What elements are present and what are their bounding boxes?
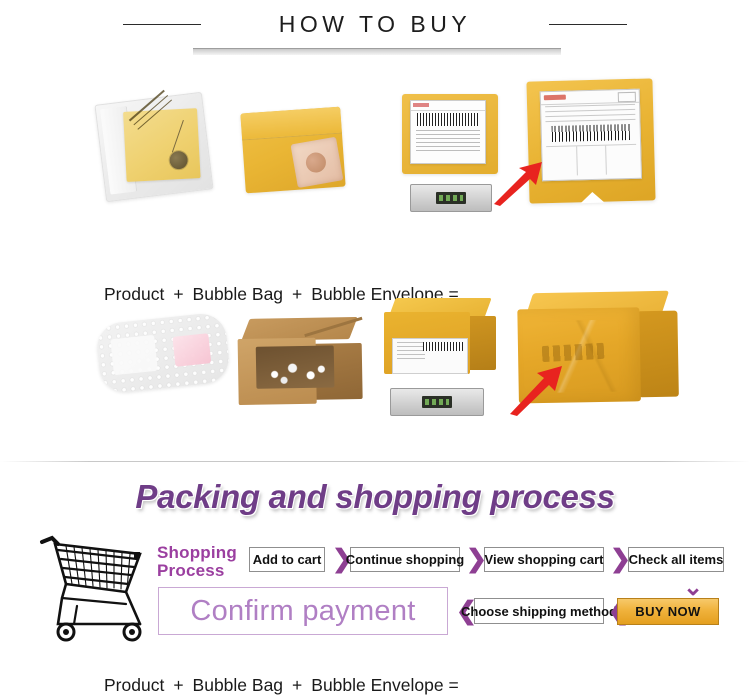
open-carton-with-filler	[238, 318, 362, 406]
packing-row-2-items	[0, 257, 750, 422]
header-rule-left	[123, 24, 201, 25]
parcel-printed-text	[542, 343, 605, 362]
yellow-box-on-scale	[384, 298, 502, 416]
waybill-header	[411, 101, 485, 111]
page-title: HOW TO BUY	[279, 11, 471, 38]
bubble-wrapped-products	[98, 318, 228, 388]
header-inner: HOW TO BUY	[0, 0, 750, 48]
waybill-logo-row	[541, 90, 639, 106]
product-in-poly-bag	[100, 98, 208, 196]
ybox-side	[468, 316, 496, 370]
shopping-process-flow: Shopping Process Add to cart ❯ Continue …	[0, 540, 750, 658]
digital-scale	[410, 184, 492, 212]
buy-now-button[interactable]: BUY NOW	[617, 598, 719, 625]
waybill-fields	[545, 104, 635, 124]
parcel-side	[637, 311, 678, 398]
waybill-footer-grid	[546, 144, 637, 176]
shopping-process-label-line2: Process	[157, 562, 237, 580]
process-title: Packing and shopping process	[0, 478, 750, 516]
waybill-small	[410, 100, 486, 164]
carton-cavity-filler	[256, 345, 335, 388]
caption-bubble-envelope-2: Bubble Envelope	[311, 675, 443, 695]
red-arrow-2	[508, 364, 564, 416]
wrapped-item-a	[110, 335, 158, 375]
barcode	[417, 113, 479, 126]
bubble-wrap-bundle	[95, 311, 232, 394]
packing-row-2-caption: Product+Bubble Bag+Bubble Envelope =	[0, 675, 750, 696]
envelope-notch	[580, 192, 604, 204]
confirm-payment-label: Confirm payment	[190, 595, 415, 628]
step-view-shopping-cart[interactable]: View shopping cart	[484, 547, 604, 572]
header-rule-right	[549, 24, 627, 25]
step-check-all-items[interactable]: Check all items	[628, 547, 724, 572]
section-divider	[0, 461, 750, 462]
mailer-contents	[290, 137, 343, 188]
waybill-lines	[416, 130, 480, 159]
final-labeled-envelope	[528, 80, 654, 202]
brand-script	[129, 90, 165, 122]
pendant	[169, 151, 188, 170]
packing-row-1-items	[0, 62, 750, 222]
kraft-bubble-mailer	[243, 110, 343, 190]
ybox-shipping-label	[392, 338, 468, 374]
scale-display-2	[422, 396, 452, 408]
shopping-process-label: Shopping Process	[157, 544, 237, 580]
caption-plus-2b: +	[283, 675, 311, 695]
digital-scale-2	[390, 388, 484, 416]
jewelry-card	[123, 108, 201, 182]
caption-plus-1b: +	[164, 675, 192, 695]
final-envelope	[526, 78, 655, 203]
shopping-process-label-line1: Shopping	[157, 544, 237, 562]
ybox-label-lines	[397, 342, 425, 362]
mailer-flap	[240, 107, 342, 141]
step-confirm-payment[interactable]: Confirm payment	[158, 587, 448, 635]
chevron-down-icon: ⌄	[683, 576, 703, 600]
waybill-barcode	[552, 124, 630, 142]
packing-row-2: Product+Bubble Bag+Bubble Envelope =	[0, 257, 750, 457]
yellow-wrapped-box	[384, 298, 496, 376]
yellow-box-stack	[384, 298, 502, 416]
cardboard-carton	[237, 317, 363, 407]
step-add-to-cart[interactable]: Add to cart	[249, 547, 325, 572]
necklace-chain	[172, 120, 184, 152]
step-continue-shopping[interactable]: Continue shopping	[350, 547, 460, 572]
waybill-large	[540, 89, 642, 182]
labeled-envelope	[402, 94, 498, 174]
packing-section: Product+Bubble Bag+Bubble Envelope =	[0, 62, 750, 457]
header-shadow-bar	[193, 48, 561, 55]
step-choose-shipping-method[interactable]: Choose shipping method	[474, 598, 604, 624]
packing-row-1: Product+Bubble Bag+Bubble Envelope =	[0, 62, 750, 257]
poly-bag	[94, 92, 213, 202]
caption-bubble-bag-2: Bubble Bag	[193, 675, 284, 695]
scale-display	[436, 192, 466, 204]
caption-equals-2: =	[448, 675, 458, 695]
caption-product-2: Product	[104, 675, 164, 695]
ybox-label-barcode	[423, 342, 463, 351]
page-header: HOW TO BUY	[0, 0, 750, 62]
wrapped-item-b	[172, 333, 211, 367]
red-arrow-1	[492, 160, 544, 206]
bubble-mailer	[240, 107, 345, 194]
